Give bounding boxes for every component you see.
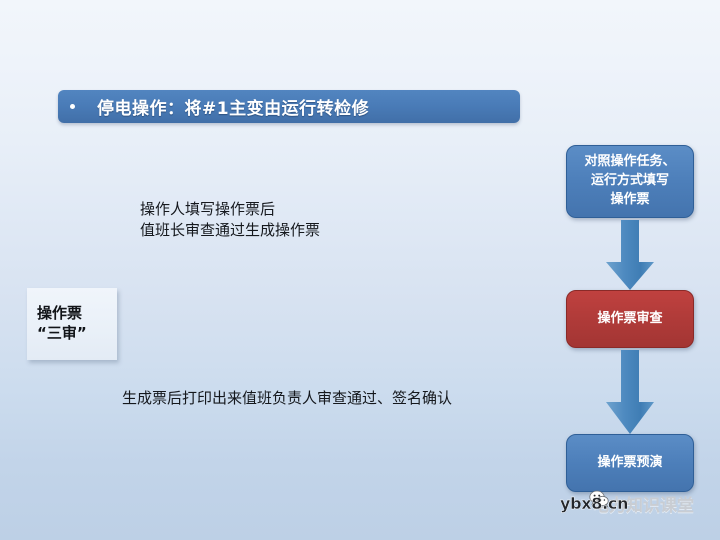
note-lower-line-1: 生成票后打印出来值班负责人审查通过、签名确认: [122, 388, 452, 409]
flow-box-1-line-1: 对照操作任务、: [584, 153, 675, 172]
flow-box-2-line-1: 操作票审查: [597, 310, 662, 329]
flow-box-rehearse-ticket: 操作票预演: [566, 434, 694, 492]
slide-canvas: 停电操作：将#1主变由运行转检修 操作票 “三审” 操作人填写操作票后 值班长审…: [0, 0, 720, 540]
flow-box-1-line-3: 操作票: [584, 191, 675, 210]
bullet-icon: [70, 104, 75, 109]
note-upper: 操作人填写操作票后 值班长审查通过生成操作票: [140, 199, 320, 242]
arrow-down-icon-2: [604, 350, 656, 434]
flow-box-3-line-1: 操作票预演: [597, 454, 662, 473]
watermark: 电力知识课堂 ybx8.cn: [560, 492, 694, 514]
arrow-down-icon-1: [604, 220, 656, 290]
flow-box-review-ticket: 操作票审查: [566, 290, 694, 348]
title-banner: 停电操作：将#1主变由运行转检修: [58, 90, 520, 123]
note-upper-line-1: 操作人填写操作票后: [140, 199, 320, 220]
left-emphasis-box: 操作票 “三审”: [27, 288, 117, 360]
flow-box-fill-ticket: 对照操作任务、 运行方式填写 操作票: [566, 145, 694, 218]
note-upper-line-2: 值班长审查通过生成操作票: [140, 220, 320, 241]
watermark-url: ybx8.cn: [560, 494, 628, 513]
title-text: 停电操作：将#1主变由运行转检修: [97, 94, 369, 119]
flow-box-1-line-2: 运行方式填写: [584, 172, 675, 191]
note-lower: 生成票后打印出来值班负责人审查通过、签名确认: [122, 388, 452, 409]
left-box-line-1: 操作票: [37, 304, 82, 324]
left-box-line-2: “三审”: [37, 324, 87, 344]
